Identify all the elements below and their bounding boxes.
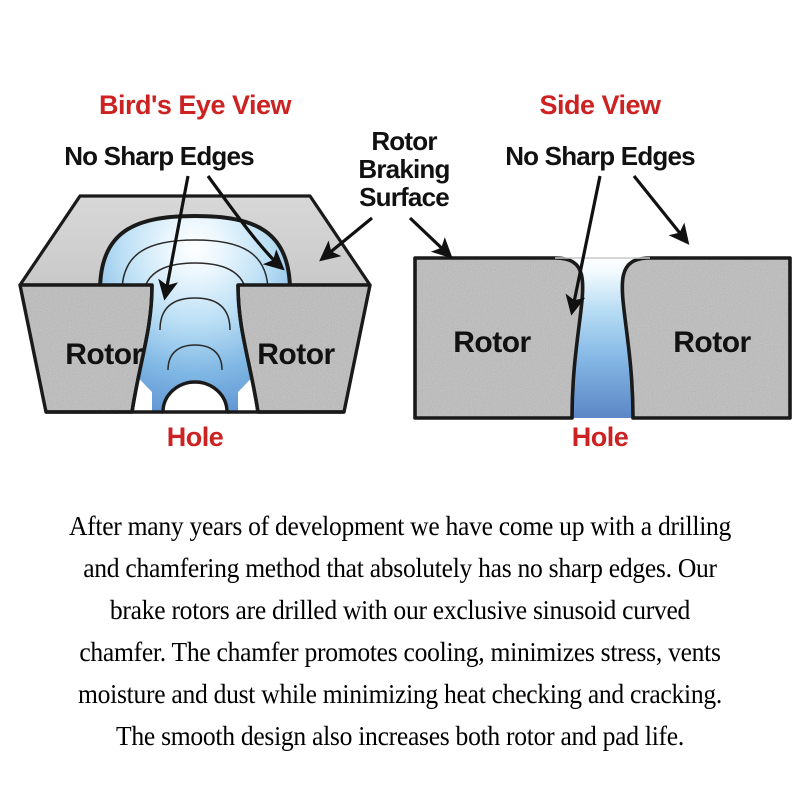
- birds-eye-title: Bird's Eye View: [99, 90, 293, 120]
- birds-eye-hole-label: Hole: [167, 422, 224, 452]
- side-view-no-sharp-edges-label: No Sharp Edges: [505, 141, 695, 171]
- caption-line-6: The smooth design also increases both ro…: [39, 715, 761, 757]
- caption-line-1: After many years of development we have …: [39, 505, 761, 547]
- side-view-group: Side View No Sharp Edges Rotor Rotor Hol…: [410, 90, 790, 452]
- side-view-title: Side View: [539, 90, 662, 120]
- caption-line-3: brake rotors are drilled with our exclus…: [39, 589, 761, 631]
- rotor-braking-surface-line-3: Surface: [359, 182, 449, 212]
- rotor-braking-surface-line-1: Rotor: [371, 126, 437, 156]
- diagram-page: Bird's Eye View No Sharp Edges Rotor Bra…: [0, 0, 800, 800]
- side-view-rotor-left-label: Rotor: [453, 326, 531, 359]
- birds-eye-rotor-right-label: Rotor: [257, 338, 335, 371]
- rotor-braking-surface-line-2: Braking: [358, 154, 449, 184]
- side-view-hole-label: Hole: [572, 422, 629, 452]
- birds-eye-view-group: Bird's Eye View No Sharp Edges Rotor Bra…: [20, 90, 450, 452]
- diagram-area: Bird's Eye View No Sharp Edges Rotor Bra…: [0, 0, 800, 500]
- birds-eye-rotor-left-label: Rotor: [65, 338, 143, 371]
- caption-line-2: and chamfering method that absolutely ha…: [39, 547, 761, 589]
- side-view-rotor-right-label: Rotor: [673, 326, 751, 359]
- rotor-braking-surface-arrow-right: [410, 218, 450, 256]
- rotor-chamfer-diagram: Bird's Eye View No Sharp Edges Rotor Bra…: [0, 0, 800, 500]
- side-view-arrow-right: [634, 176, 687, 242]
- caption-area: After many years of development we have …: [0, 505, 800, 800]
- caption-line-5: moisture and dust while minimizing heat …: [39, 673, 761, 715]
- birds-eye-no-sharp-edges-label: No Sharp Edges: [64, 141, 254, 171]
- caption-line-4: chamfer. The chamfer promotes cooling, m…: [39, 631, 761, 673]
